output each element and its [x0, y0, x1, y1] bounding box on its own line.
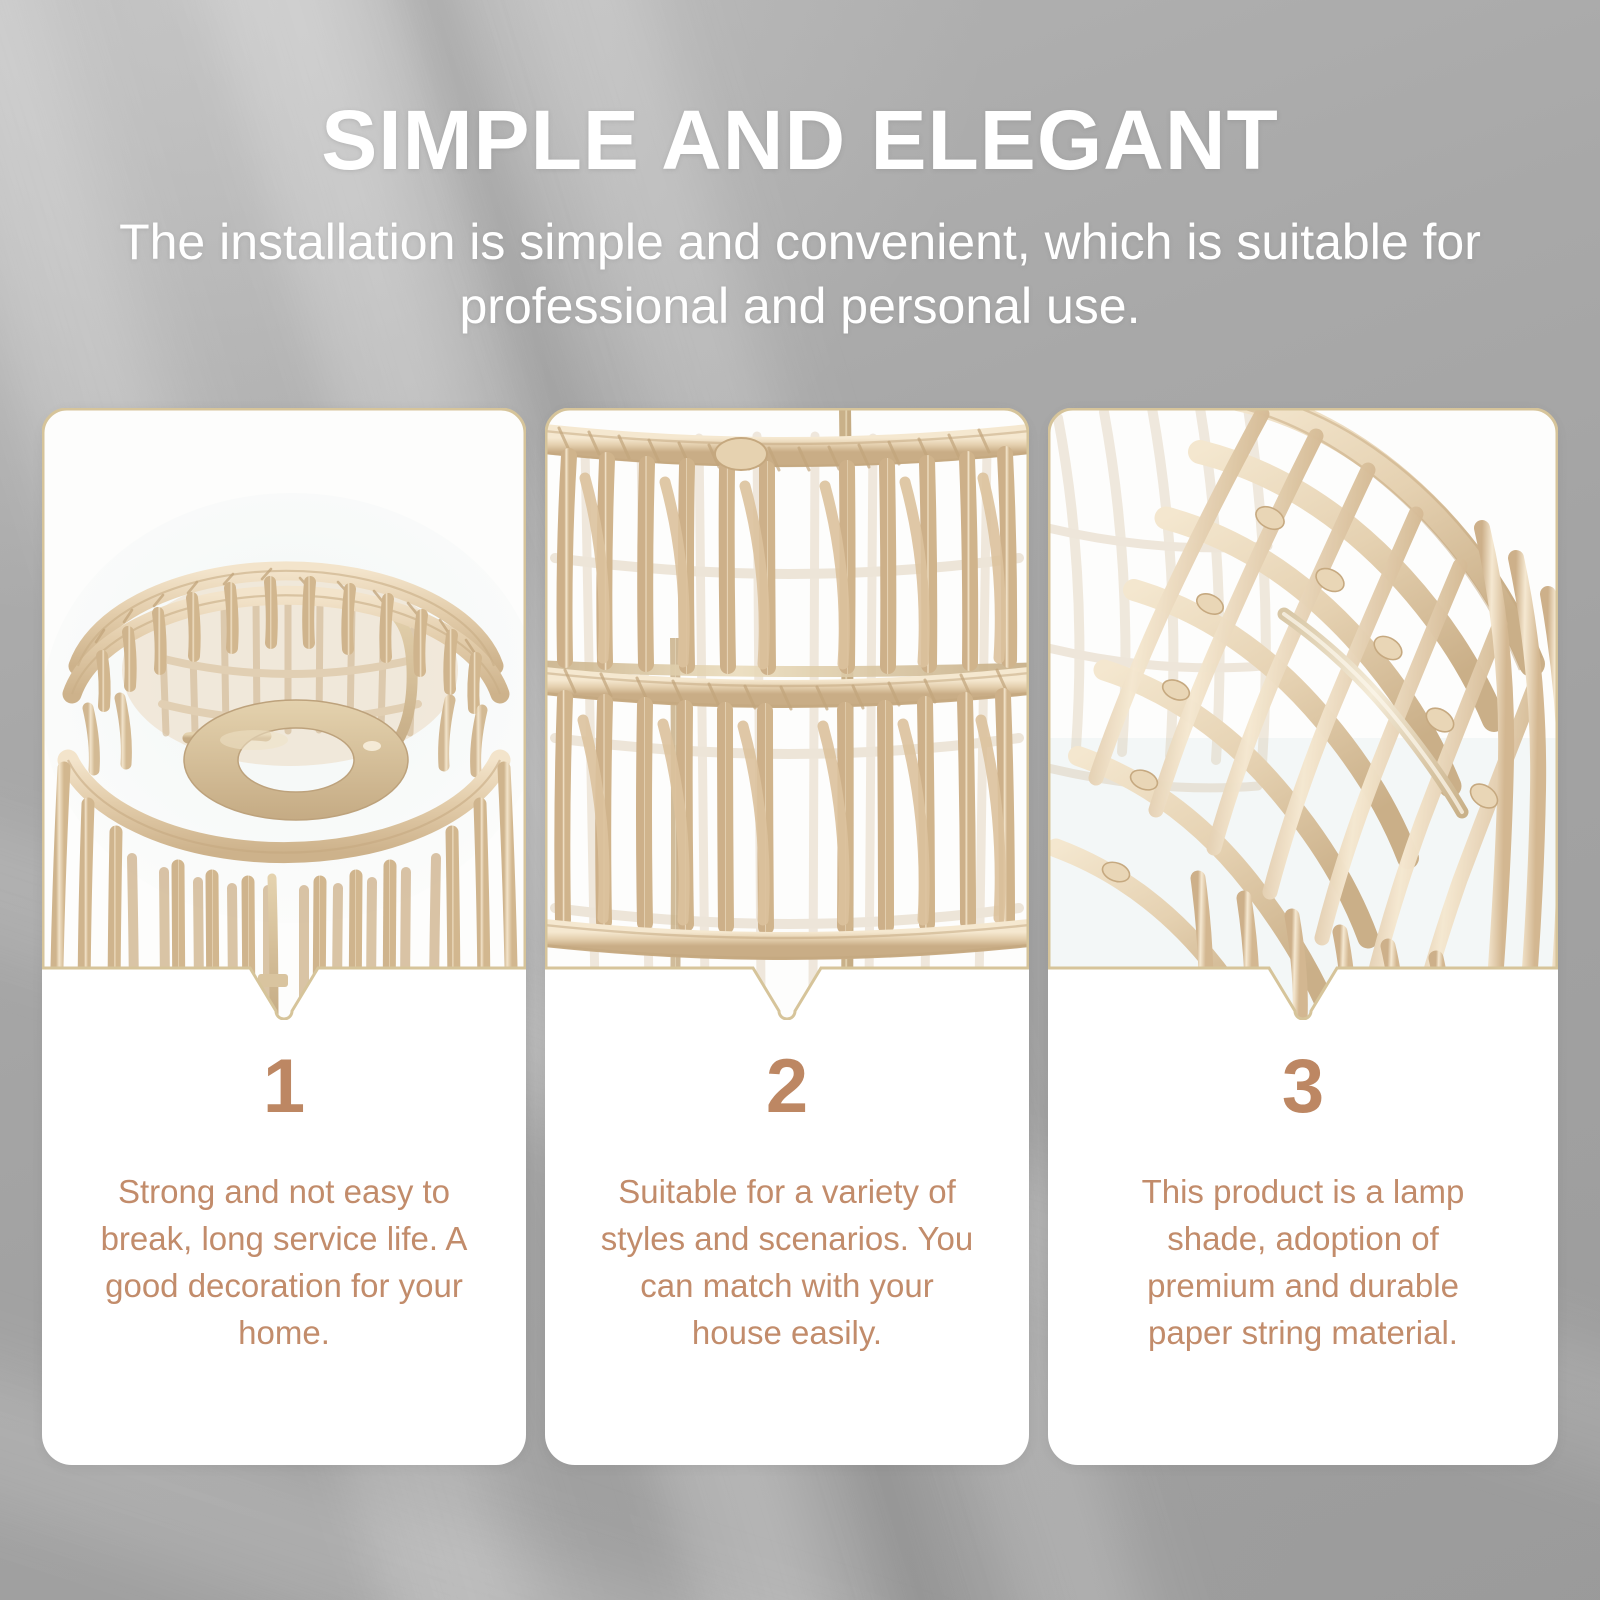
product-photo-frame — [42, 408, 526, 975]
feature-card: 2 Suitable for a variety of styles and s… — [545, 408, 1029, 1465]
step-number: 3 — [1088, 1049, 1518, 1125]
product-photo-frame — [545, 408, 1029, 975]
step-number: 1 — [82, 1049, 486, 1125]
step-number: 2 — [585, 1049, 989, 1125]
feature-card-row: 1 Strong and not easy to break, long ser… — [42, 408, 1558, 1465]
product-photo-frame — [1048, 408, 1558, 975]
page-title: SIMPLE AND ELEGANT — [0, 96, 1600, 184]
infographic-page: SIMPLE AND ELEGANT The installation is s… — [0, 0, 1600, 1600]
step-description: Suitable for a variety of styles and sce… — [597, 1169, 977, 1356]
card-content: 2 Suitable for a variety of styles and s… — [545, 975, 1029, 1356]
feature-card: 1 Strong and not easy to break, long ser… — [42, 408, 526, 1465]
card-content: 1 Strong and not easy to break, long ser… — [42, 975, 526, 1356]
woven-rope-mesh-closeup-with-frame-rods-icon — [545, 408, 1029, 1020]
page-subtitle: The installation is simple and convenien… — [75, 210, 1525, 338]
lamp-shade-top-opening-with-metal-fitting-icon — [42, 408, 526, 1020]
feature-card: 3 This product is a lamp shade, adoption… — [1048, 408, 1558, 1465]
card-content: 3 This product is a lamp shade, adoption… — [1048, 975, 1558, 1356]
header: SIMPLE AND ELEGANT The installation is s… — [0, 96, 1600, 338]
angled-woven-shade-edge-closeup-icon — [1048, 408, 1558, 1020]
step-description: Strong and not easy to break, long servi… — [94, 1169, 474, 1356]
step-description: This product is a lamp shade, adoption o… — [1103, 1169, 1503, 1356]
